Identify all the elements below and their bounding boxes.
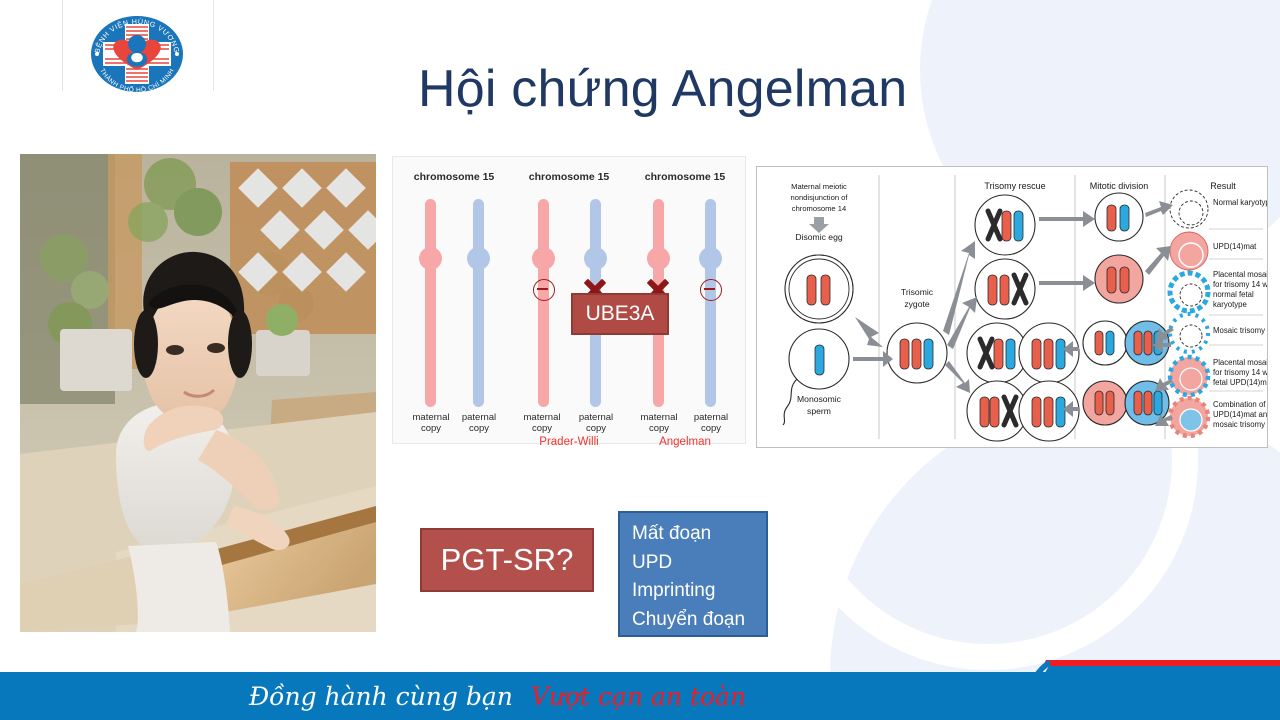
syndrome-label-prader-willi: Prader-Willi bbox=[504, 436, 634, 448]
maternal-chromosome bbox=[425, 199, 436, 407]
maternal-centromere bbox=[419, 247, 442, 270]
minus-icon bbox=[533, 279, 555, 301]
copy-word: copy bbox=[532, 423, 552, 434]
maternal-centromere bbox=[647, 247, 670, 270]
maternal-chromosome bbox=[538, 199, 549, 407]
label-mitotic-division: Mitotic division bbox=[1090, 181, 1149, 191]
tagline-primary: Đồng hành cùng bạn bbox=[249, 682, 513, 711]
result-label-2-line-1: for trisomy 14 with bbox=[1213, 280, 1267, 289]
label-trisomy-rescue: Trisomy rescue bbox=[984, 181, 1045, 191]
ube3a-gene-badge: UBE3A bbox=[571, 293, 669, 335]
result-label-4-line-2: fetal UPD(14)mat bbox=[1213, 378, 1267, 387]
paternal-centromere bbox=[467, 247, 490, 270]
copy-word: copy bbox=[469, 423, 489, 434]
copy-word: copy bbox=[701, 423, 721, 434]
minus-icon bbox=[700, 279, 722, 301]
result-label-4-line-0: Placental mosaicism bbox=[1213, 358, 1267, 367]
maternal-word: maternal bbox=[524, 412, 561, 423]
paternal-centromere bbox=[699, 247, 722, 270]
result-label-1-line-0: UPD(14)mat bbox=[1213, 242, 1257, 251]
slide-title: Hội chứng Angelman bbox=[418, 56, 1058, 126]
label-monosomic-sperm-2: sperm bbox=[807, 406, 831, 416]
syndrome-label-angelman: Angelman bbox=[620, 436, 750, 448]
slide-canvas: BỆNH VIỆN HÙNG VƯƠNG THÀNH PHỐ HỒ CHÍ MI… bbox=[0, 0, 1280, 720]
chromosome-title: chromosome 15 bbox=[399, 171, 509, 183]
chromosome-title: chromosome 15 bbox=[510, 171, 628, 183]
paternal-centromere bbox=[584, 247, 607, 270]
patient-photo bbox=[20, 154, 376, 632]
result-label-2-line-0: Placental mosaicism bbox=[1213, 270, 1267, 279]
footer-tagline: Đồng hành cùng bạn Vượt cạn an toàn bbox=[0, 672, 1280, 720]
result-label-4-line-1: for trisomy 14 with bbox=[1213, 368, 1267, 377]
chromosome-group-normal: chromosome 15 maternal copy paternal cop… bbox=[399, 157, 509, 443]
copy-word: copy bbox=[421, 423, 441, 434]
paternal-word: paternal bbox=[579, 412, 613, 423]
result-label-5-line-0: Combination of bbox=[1213, 400, 1266, 409]
paternal-copy-label: paternal copy bbox=[447, 412, 511, 434]
label-nondisjunction-2: nondisjunction of bbox=[791, 193, 849, 202]
uniparental-disomy-figure: Maternal meiotic nondisjunction of chrom… bbox=[756, 166, 1268, 448]
result-label-5-line-1: UPD(14)mat and bbox=[1213, 410, 1267, 419]
mechanism-item-1: UPD bbox=[632, 549, 766, 578]
paternal-word: paternal bbox=[462, 412, 496, 423]
label-nondisjunction-3: chromosome 14 bbox=[792, 204, 846, 213]
pgt-sr-callout: PGT-SR? bbox=[420, 528, 594, 592]
paternal-copy-label: paternal copy bbox=[564, 412, 628, 434]
result-label-5-line-2: mosaic trisomy 14 bbox=[1213, 420, 1267, 429]
hospital-logo: BỆNH VIỆN HÙNG VƯƠNG THÀNH PHỐ HỒ CHÍ MI… bbox=[66, 6, 208, 102]
result-label-3-line-0: Mosaic trisomy 14 bbox=[1213, 326, 1267, 335]
label-monosomic-sperm-1: Monosomic bbox=[797, 394, 842, 404]
label-disomic-egg: Disomic egg bbox=[795, 232, 843, 242]
copy-word: copy bbox=[586, 423, 606, 434]
maternal-word: maternal bbox=[413, 412, 450, 423]
mechanism-item-3: Chuyển đoạn bbox=[632, 606, 766, 635]
label-trisomic-zygote-2: zygote bbox=[904, 299, 930, 309]
maternal-centromere bbox=[532, 247, 555, 270]
paternal-word: paternal bbox=[694, 412, 728, 423]
paternal-copy-label: paternal copy bbox=[679, 412, 743, 434]
mechanisms-callout: Mất đoạn UPD Imprinting Chuyển đoạn bbox=[618, 511, 768, 637]
paternal-chromosome bbox=[473, 199, 484, 407]
label-nondisjunction-1: Maternal meiotic bbox=[791, 182, 847, 191]
paternal-chromosome bbox=[705, 199, 716, 407]
result-label-2-line-3: karyotype bbox=[1213, 300, 1247, 309]
label-result: Result bbox=[1210, 181, 1236, 191]
tagline-secondary: Vượt cạn an toàn bbox=[531, 682, 746, 711]
chromosome-diagram: chromosome 15 maternal copy paternal cop… bbox=[392, 156, 746, 444]
mechanism-item-0: Mất đoạn bbox=[632, 520, 766, 549]
mechanism-item-2: Imprinting bbox=[632, 577, 766, 606]
copy-word: copy bbox=[649, 423, 669, 434]
result-label-2-line-2: normal fetal bbox=[1213, 290, 1254, 299]
label-trisomic-zygote-1: Trisomic bbox=[901, 287, 934, 297]
result-label-0-line-0: Normal karyotype bbox=[1213, 198, 1267, 207]
maternal-word: maternal bbox=[641, 412, 678, 423]
chromosome-title: chromosome 15 bbox=[629, 171, 741, 183]
